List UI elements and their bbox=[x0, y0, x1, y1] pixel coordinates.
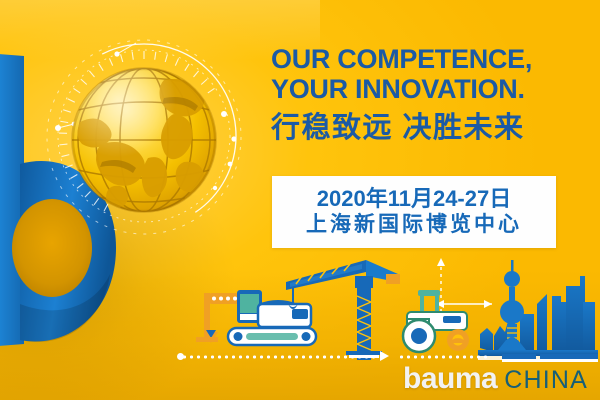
rail-arrow-icon bbox=[380, 351, 389, 361]
rail-dotted-left bbox=[181, 355, 377, 359]
bauma-china-banner: OUR COMPETENCE, YOUR INNOVATION. 行稳致远 决胜… bbox=[0, 0, 600, 400]
road-roller-icon bbox=[403, 290, 469, 352]
logo-brand-text: bauma bbox=[403, 364, 497, 394]
dimension-arrow-horizontal bbox=[436, 258, 492, 308]
rail-white-segment bbox=[502, 359, 598, 362]
logo-region-text: CHINA bbox=[504, 368, 588, 393]
rail-dotted-right bbox=[398, 355, 490, 359]
event-date: 2020年11月24-27日 bbox=[317, 186, 511, 212]
construction-scene bbox=[0, 246, 600, 366]
event-venue: 上海新国际博览中心 bbox=[306, 212, 522, 238]
shanghai-skyline-icon bbox=[478, 276, 598, 356]
headline-block: OUR COMPETENCE, YOUR INNOVATION. 行稳致远 决胜… bbox=[271, 44, 581, 148]
headline-line-1: OUR COMPETENCE, bbox=[271, 44, 581, 74]
golden-globe-icon bbox=[44, 36, 244, 236]
headline-line-2: YOUR INNOVATION. bbox=[271, 74, 581, 104]
event-date-box: 2020年11月24-27日 上海新国际博览中心 bbox=[272, 176, 556, 248]
bauma-china-logo: bauma CHINA bbox=[403, 364, 588, 394]
headline-line-chinese: 行稳致远 决胜未来 bbox=[271, 108, 581, 148]
excavator-icon bbox=[228, 290, 316, 345]
